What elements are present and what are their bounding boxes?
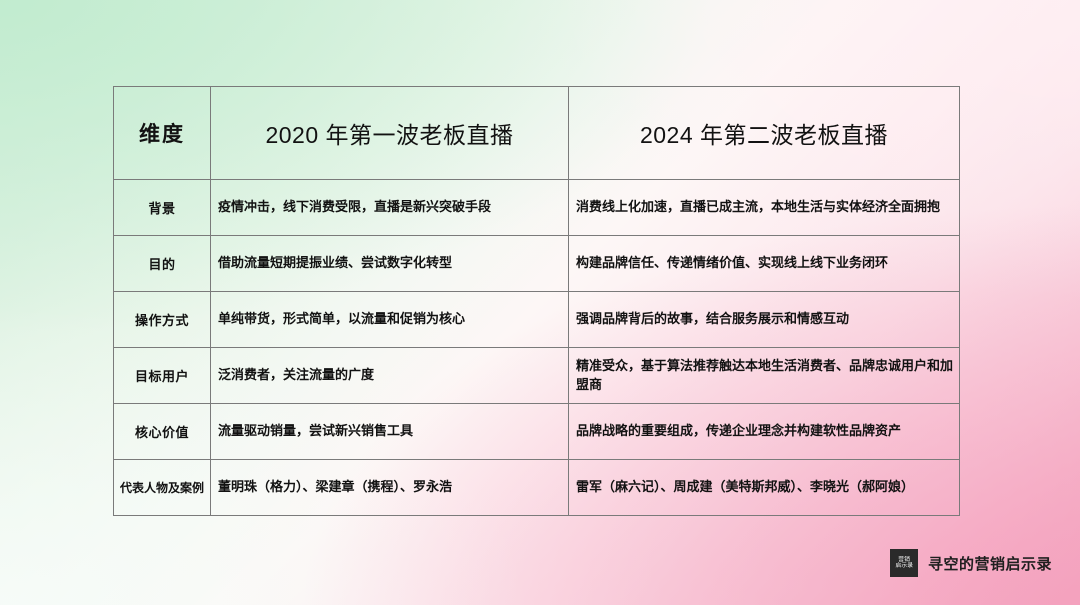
table-body: 背景 疫情冲击，线下消费受限，直播是新兴突破手段 消费线上化加速，直播已成主流，… [114,180,960,516]
table-header-row: 维度 2020 年第一波老板直播 2024 年第二波老板直播 [114,87,960,180]
brand-logo-line2: 启示录 [895,563,913,569]
watermark: 营销 启示录 寻空的营销启示录 [890,549,1052,577]
table-header: 维度 2020 年第一波老板直播 2024 年第二波老板直播 [114,87,960,180]
slide-canvas: 维度 2020 年第一波老板直播 2024 年第二波老板直播 背景 疫情冲击，线… [0,0,1080,605]
row-cell-2020: 董明珠（格力）、梁建章（携程）、罗永浩 [211,460,569,516]
watermark-text: 寻空的营销启示录 [928,553,1052,574]
row-cell-2020: 单纯带货，形式简单，以流量和促销为核心 [211,292,569,348]
row-cell-2024: 消费线上化加速，直播已成主流，本地生活与实体经济全面拥抱 [569,180,960,236]
brand-logo-icon: 营销 启示录 [890,549,918,577]
row-cell-2024: 精准受众，基于算法推荐触达本地生活消费者、品牌忠诚用户和加盟商 [569,348,960,404]
row-cell-2024: 构建品牌信任、传递情绪价值、实现线上线下业务闭环 [569,236,960,292]
row-dimension-label: 背景 [114,180,211,236]
row-dimension-label: 目的 [114,236,211,292]
brand-logo-line1: 营销 [898,557,910,563]
row-cell-2024: 强调品牌背后的故事，结合服务展示和情感互动 [569,292,960,348]
row-cell-2024: 雷军（麻六记）、周成建（美特斯邦威）、李晓光（郝阿娘） [569,460,960,516]
row-cell-2020: 借助流量短期提振业绩、尝试数字化转型 [211,236,569,292]
comparison-table-container: 维度 2020 年第一波老板直播 2024 年第二波老板直播 背景 疫情冲击，线… [113,86,959,511]
table-row: 目标用户 泛消费者，关注流量的广度 精准受众，基于算法推荐触达本地生活消费者、品… [114,348,960,404]
row-dimension-label: 目标用户 [114,348,211,404]
header-dimension: 维度 [114,87,211,180]
table-row: 核心价值 流量驱动销量，尝试新兴销售工具 品牌战略的重要组成，传递企业理念并构建… [114,404,960,460]
header-2024: 2024 年第二波老板直播 [569,87,960,180]
row-cell-2020: 疫情冲击，线下消费受限，直播是新兴突破手段 [211,180,569,236]
comparison-table: 维度 2020 年第一波老板直播 2024 年第二波老板直播 背景 疫情冲击，线… [113,86,960,516]
header-2020: 2020 年第一波老板直播 [211,87,569,180]
row-cell-2020: 泛消费者，关注流量的广度 [211,348,569,404]
row-cell-2024: 品牌战略的重要组成，传递企业理念并构建软性品牌资产 [569,404,960,460]
row-dimension-label: 核心价值 [114,404,211,460]
table-row: 背景 疫情冲击，线下消费受限，直播是新兴突破手段 消费线上化加速，直播已成主流，… [114,180,960,236]
table-row: 目的 借助流量短期提振业绩、尝试数字化转型 构建品牌信任、传递情绪价值、实现线上… [114,236,960,292]
row-dimension-label: 代表人物及案例 [114,460,211,516]
row-dimension-label: 操作方式 [114,292,211,348]
table-row: 代表人物及案例 董明珠（格力）、梁建章（携程）、罗永浩 雷军（麻六记）、周成建（… [114,460,960,516]
table-row: 操作方式 单纯带货，形式简单，以流量和促销为核心 强调品牌背后的故事，结合服务展… [114,292,960,348]
row-cell-2020: 流量驱动销量，尝试新兴销售工具 [211,404,569,460]
